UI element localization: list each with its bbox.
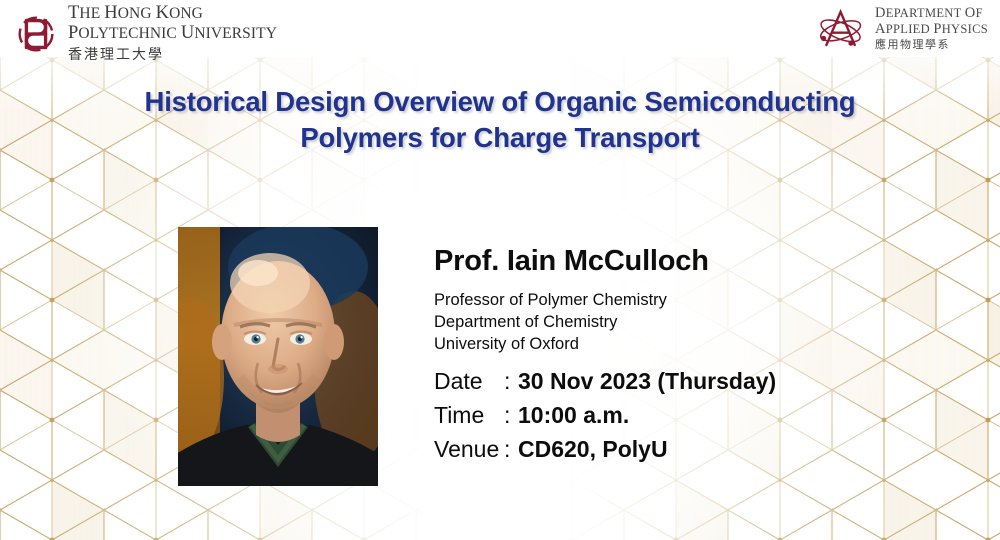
venue-value: CD620, PolyU <box>518 432 668 466</box>
poster-title-line2: Polymers for Charge Transport <box>50 120 950 156</box>
event-details: Date : 30 Nov 2023 (Thursday) Time : 10:… <box>434 364 776 466</box>
polyu-name-line2: POLYTECHNIC UNIVERSITY <box>68 24 277 44</box>
date-colon: : <box>504 364 518 398</box>
speaker-affiliation-line-1: Professor of Polymer Chemistry <box>434 290 709 312</box>
applied-physics-logo: DEPARTMENT OF APPLIED PHYSICS 應用物理學系 <box>816 4 988 52</box>
polyu-name-line1: THE HONG KONG <box>68 4 277 24</box>
venue-colon: : <box>504 432 518 466</box>
seminar-poster: THE HONG KONG POLYTECHNIC UNIVERSITY 香港理… <box>0 0 1000 540</box>
speaker-info: Prof. Iain McCulloch Professor of Polyme… <box>434 246 709 356</box>
polyu-name-chinese: 香港理工大學 <box>68 44 277 64</box>
speaker-portrait-image <box>178 227 378 486</box>
venue-label: Venue <box>434 432 504 466</box>
detail-row-venue: Venue : CD620, PolyU <box>434 432 776 466</box>
detail-row-time: Time : 10:00 a.m. <box>434 398 776 432</box>
speaker-affiliation-line-2: Department of Chemistry <box>434 312 709 334</box>
ap-name-line2: APPLIED PHYSICS <box>875 21 988 37</box>
atom-a-icon <box>816 4 868 52</box>
date-label: Date <box>434 364 504 398</box>
polyu-logo-text: THE HONG KONG POLYTECHNIC UNIVERSITY 香港理… <box>68 4 277 64</box>
speaker-photo <box>178 227 378 486</box>
time-label: Time <box>434 398 504 432</box>
date-value: 30 Nov 2023 (Thursday) <box>518 364 776 398</box>
ap-name-line1: DEPARTMENT OF <box>875 5 988 21</box>
time-value: 10:00 a.m. <box>518 398 629 432</box>
polyu-knot-icon <box>12 10 60 58</box>
polyu-logo: THE HONG KONG POLYTECHNIC UNIVERSITY 香港理… <box>12 4 277 64</box>
speaker-name: Prof. Iain McCulloch <box>434 246 709 278</box>
time-colon: : <box>504 398 518 432</box>
detail-row-date: Date : 30 Nov 2023 (Thursday) <box>434 364 776 398</box>
speaker-affiliation-line-3: University of Oxford <box>434 334 709 356</box>
poster-title: Historical Design Overview of Organic Se… <box>50 84 950 157</box>
applied-physics-logo-text: DEPARTMENT OF APPLIED PHYSICS 應用物理學系 <box>875 5 988 51</box>
ap-name-chinese: 應用物理學系 <box>875 39 988 51</box>
poster-title-line1: Historical Design Overview of Organic Se… <box>50 84 950 120</box>
